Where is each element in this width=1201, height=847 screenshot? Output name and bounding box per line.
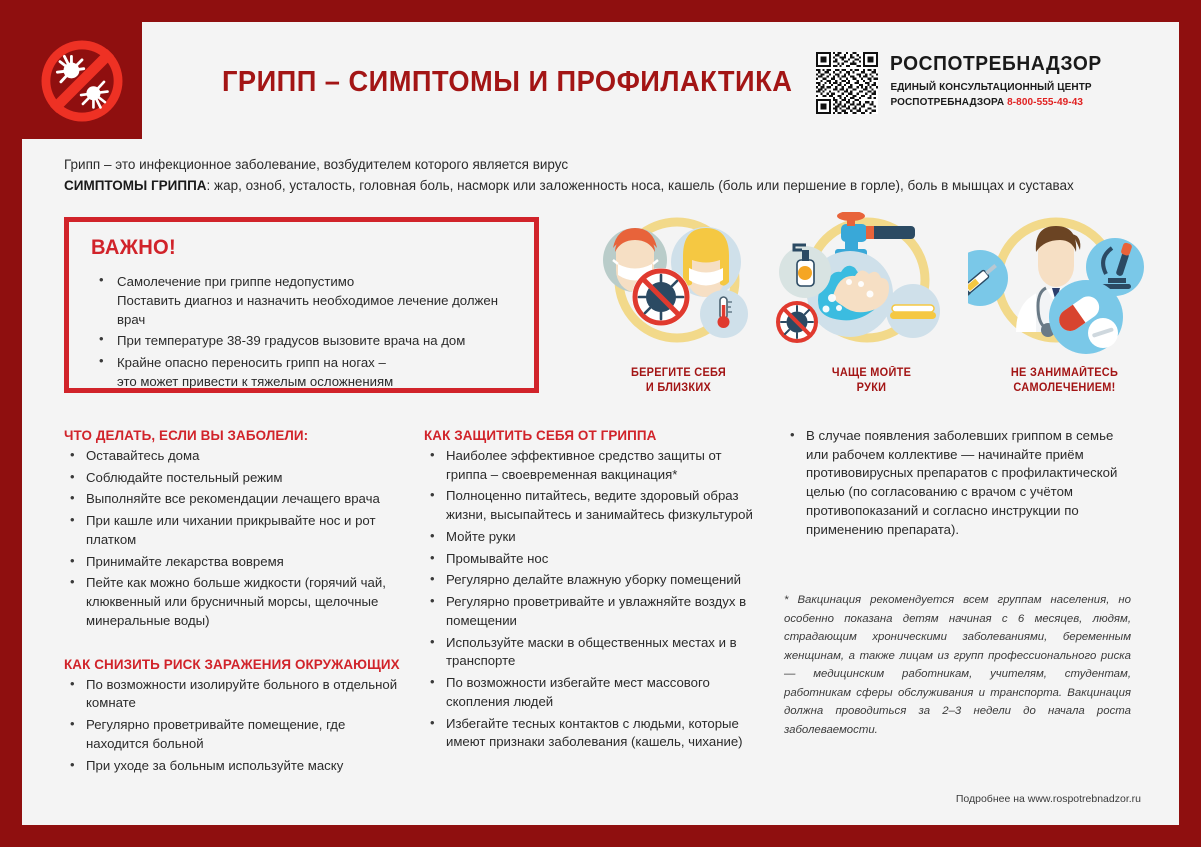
list-item: При уходе за больным используйте маску: [64, 757, 406, 776]
list-item: Выполняйте все рекомендации лечащего вра…: [64, 490, 406, 509]
list-item: Промывайте нос: [424, 550, 766, 569]
what-to-do-list: Оставайтесь дома Соблюдайте постельный р…: [64, 447, 406, 631]
list-item: Регулярно проветривайте и увлажняйте воз…: [424, 593, 766, 630]
panel-wash-hands: ЧАЩЕ МОЙТЕ РУКИ: [775, 212, 968, 397]
qr-code-icon[interactable]: [816, 52, 878, 114]
brand-text-block: РОСПОТРЕБНАДЗОР ЕДИНЫЙ КОНСУЛЬТАЦИОННЫЙ …: [890, 52, 1111, 110]
brand-name: РОСПОТРЕБНАДЗОР: [890, 54, 1102, 74]
list-item: Самолечение при гриппе недопустимоПостав…: [91, 272, 516, 329]
important-box: ВАЖНО! Самолечение при гриппе недопустим…: [64, 217, 539, 393]
poster-root: ГРИПП – СИМПТОМЫ И ПРОФИЛАКТИКА: [0, 0, 1201, 847]
list-item: Регулярно делайте влажную уборку помещен…: [424, 571, 766, 590]
symptoms-label: СИМПТОМЫ ГРИППА: [64, 178, 207, 193]
two-people-masks-no-virus-thermometer-icon: [582, 212, 775, 367]
footer-website-link[interactable]: Подробнее на www.rospotrebnadzor.ru: [956, 793, 1141, 805]
no-virus-icon: [38, 37, 126, 125]
caption-line-2: РУКИ: [780, 381, 963, 397]
panel-protect-yourself: БЕРЕГИТЕ СЕБЯ И БЛИЗКИХ: [582, 212, 775, 397]
list-item: Регулярно проветривайте помещение, где н…: [64, 716, 406, 753]
list-item: Полноценно питайтесь, ведите здоровый об…: [424, 487, 766, 524]
illustration-panels: БЕРЕГИТЕ СЕБЯ И БЛИЗКИХ: [582, 212, 1162, 397]
reduce-risk-list: По возможности изолируйте больного в отд…: [64, 676, 406, 776]
rospotrebnadzor-brand: РОСПОТРЕБНАДЗОР ЕДИНЫЙ КОНСУЛЬТАЦИОННЫЙ …: [816, 52, 1111, 114]
how-to-protect-list: Наиболее эффективное средство защиты от …: [424, 447, 766, 752]
intro-symptoms: СИМПТОМЫ ГРИППА: жар, озноб, усталость, …: [64, 176, 1154, 196]
intro-definition: Грипп – это инфекционное заболевание, во…: [64, 155, 1154, 175]
list-item: Принимайте лекарства вовремя: [64, 553, 406, 572]
section-spacer: [64, 634, 406, 656]
important-heading: ВАЖНО!: [91, 236, 499, 260]
list-item: Соблюдайте постельный режим: [64, 469, 406, 488]
caption-line-1: ЧАЩЕ МОЙТЕ: [780, 366, 963, 382]
column-antiviral-prophylaxis: В случае появления заболевших гриппом в …: [784, 427, 1149, 778]
poster-sheet: ГРИПП – СИМПТОМЫ И ПРОФИЛАКТИКА: [22, 22, 1179, 825]
caption-line-1: НЕ ЗАНИМАЙТЕСЬ: [973, 366, 1156, 382]
header: ГРИПП – СИМПТОМЫ И ПРОФИЛАКТИКА: [142, 22, 1179, 139]
intro-block: Грипп – это инфекционное заболевание, во…: [64, 155, 1154, 197]
page-title: ГРИПП – СИМПТОМЫ И ПРОФИЛАКТИКА: [222, 66, 792, 99]
list-item: Крайне опасно переносить грипп на ногах …: [91, 353, 516, 391]
brand-sub-line2-row: РОСПОТРЕБНАДЗОРА 8-800-555-49-43: [890, 96, 1111, 111]
brand-sub-line2: РОСПОТРЕБНАДЗОРА: [890, 97, 1004, 108]
symptoms-text: : жар, озноб, усталость, головная боль, …: [207, 178, 1074, 193]
caption-line-2: САМОЛЕЧЕНИЕМ!: [973, 381, 1156, 397]
list-item: Пейте как можно больше жидкости (горячий…: [64, 574, 406, 630]
section-heading-what-to-do: ЧТО ДЕЛАТЬ, ЕСЛИ ВЫ ЗАБОЛЕЛИ:: [64, 427, 392, 443]
panel-caption: ЧАЩЕ МОЙТЕ РУКИ: [780, 366, 963, 397]
list-item: При температуре 38-39 градусов вызовите …: [91, 331, 516, 350]
section-heading-reduce-risk: КАК СНИЗИТЬ РИСК ЗАРАЖЕНИЯ ОКРУЖАЮЩИХ: [64, 656, 392, 672]
antiviral-list: В случае появления заболевших гриппом в …: [784, 427, 1131, 539]
list-item: По возможности избегайте мест массового …: [424, 674, 766, 711]
important-list: Самолечение при гриппе недопустимоПостав…: [91, 272, 516, 391]
section-heading-how-to-protect: КАК ЗАЩИТИТЬ СЕБЯ ОТ ГРИППА: [424, 427, 752, 443]
list-item: Избегайте тесных контактов с людьми, кот…: [424, 715, 766, 752]
list-item: При кашле или чихании прикрывайте нос и …: [64, 512, 406, 549]
list-item: Наиболее эффективное средство защиты от …: [424, 447, 766, 484]
caption-line-2: И БЛИЗКИХ: [587, 381, 770, 397]
caption-line-1: БЕРЕГИТЕ СЕБЯ: [587, 366, 770, 382]
panel-no-self-medication: НЕ ЗАНИМАЙТЕСЬ САМОЛЕЧЕНИЕМ!: [968, 212, 1161, 397]
column-what-to-do: ЧТО ДЕЛАТЬ, ЕСЛИ ВЫ ЗАБОЛЕЛИ: Оставайтес…: [64, 427, 424, 778]
list-item: Используйте маски в общественных местах …: [424, 634, 766, 671]
logo-block: [22, 22, 142, 139]
doctor-syringe-microscope-pills-icon: [968, 212, 1161, 367]
brand-sub-line1: ЕДИНЫЙ КОНСУЛЬТАЦИОННЫЙ ЦЕНТР: [890, 81, 1111, 96]
hotline-phone[interactable]: 8-800-555-49-43: [1007, 97, 1083, 108]
vaccination-footnote: * Вакцинация рекомендуется всем группам …: [784, 591, 1131, 739]
column-how-to-protect: КАК ЗАЩИТИТЬ СЕБЯ ОТ ГРИППА Наиболее эфф…: [424, 427, 784, 778]
brand-subtitle: ЕДИНЫЙ КОНСУЛЬТАЦИОННЫЙ ЦЕНТР РОСПОТРЕБН…: [890, 81, 1111, 110]
content-columns: ЧТО ДЕЛАТЬ, ЕСЛИ ВЫ ЗАБОЛЕЛИ: Оставайтес…: [64, 427, 1149, 778]
list-item: Мойте руки: [424, 528, 766, 547]
panel-caption: БЕРЕГИТЕ СЕБЯ И БЛИЗКИХ: [587, 366, 770, 397]
list-item: По возможности изолируйте больного в отд…: [64, 676, 406, 713]
panel-caption: НЕ ЗАНИМАЙТЕСЬ САМОЛЕЧЕНИЕМ!: [973, 366, 1156, 397]
washing-hands-faucet-soap-icon: [775, 212, 968, 367]
list-item: Оставайтесь дома: [64, 447, 406, 466]
list-item: В случае появления заболевших гриппом в …: [784, 427, 1131, 539]
